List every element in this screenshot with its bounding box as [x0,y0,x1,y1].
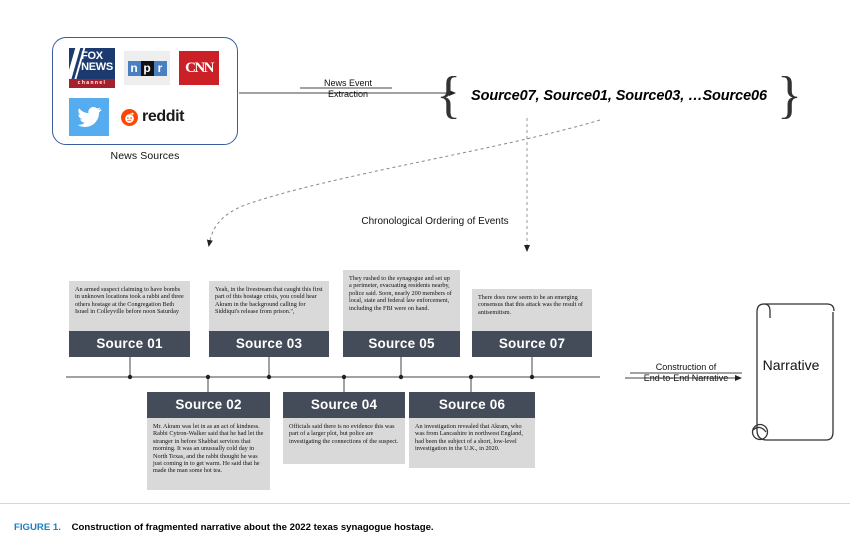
source-card-04-header: Source 04 [283,392,405,418]
source-card-03-header: Source 03 [209,331,329,357]
extraction-label-line2: Extraction [303,89,393,100]
figure-caption: FIGURE 1. Construction of fragmented nar… [14,522,434,533]
source-card-04[interactable]: Source 04 Officials said there is no evi… [283,392,405,464]
npr-icon: n p r [124,51,170,85]
source-set-text: Source07, Source01, Source03, …Source06 [461,88,777,104]
source-card-02[interactable]: Source 02 Mr. Akram was let in as an act… [147,392,270,490]
source-card-01-text: An armed suspect claiming to have bombs … [69,281,190,331]
source-card-03-text: Yeah, in the livestream that caught this… [209,281,329,331]
cnn-icon: CNN [179,51,219,85]
source-card-02-header: Source 02 [147,392,270,418]
figure-container: FOX NEWS channel n p r CNN [0,0,850,559]
source-card-07-header: Source 07 [472,331,592,357]
narrative-scroll[interactable]: Narrative [749,305,833,445]
news-event-extraction-label: News Event Extraction [303,78,393,100]
reddit-icon: reddit [121,108,184,126]
reddit-wordmark: reddit [142,108,184,126]
news-sources-panel: FOX NEWS channel n p r CNN [52,37,238,145]
construction-label-line1: Construction of [630,362,742,373]
source-card-07[interactable]: There does now seem to be an emerging co… [472,289,592,357]
source-card-05[interactable]: They rushed to the synagogue and set up … [343,270,460,357]
source-card-06-header: Source 06 [409,392,535,418]
source-card-01[interactable]: An armed suspect claiming to have bombs … [69,281,190,357]
timeline-dot [399,375,403,379]
source-card-01-header: Source 01 [69,331,190,357]
extraction-label-line1: News Event [303,78,393,89]
npr-letter-n: n [128,61,141,76]
narrative-label: Narrative [749,357,833,373]
timeline-dot [469,375,473,379]
construction-label-line2: End-to-End Narrative [630,373,742,384]
npr-letter-r: r [154,61,167,76]
fox-news-icon: FOX NEWS channel [69,48,115,88]
cnn-wordmark: CNN [185,60,213,77]
source-card-02-text: Mr. Akram was let in as an act of kindne… [147,418,270,490]
source-card-06[interactable]: Source 06 An investigation revealed that… [409,392,535,468]
timeline-dot [530,375,534,379]
logo-row-top: FOX NEWS channel n p r CNN [69,48,219,88]
fox-news-tagline: channel [69,79,115,88]
source-card-03[interactable]: Yeah, in the livestream that caught this… [209,281,329,357]
npr-letter-p: p [141,61,154,76]
news-sources-label: News Sources [52,150,238,162]
fox-news-line2: NEWS [81,62,113,73]
figure-number: FIGURE 1. [14,522,61,533]
logo-row-bottom: reddit [69,98,184,136]
source-card-07-text: There does now seem to be an emerging co… [472,289,592,331]
construction-narrative-label: Construction of End-to-End Narrative [630,362,742,384]
twitter-icon [69,98,109,136]
source-card-06-text: An investigation revealed that Akram, wh… [409,418,535,468]
source-card-05-header: Source 05 [343,331,460,357]
source-card-04-text: Officials said there is no evidence this… [283,418,405,464]
timeline-dot [128,375,132,379]
timeline-dot [267,375,271,379]
source-card-05-text: They rushed to the synagogue and set up … [343,270,460,331]
chronological-ordering-label: Chronological Ordering of Events [345,216,525,227]
caption-bar: FIGURE 1. Construction of fragmented nar… [0,503,850,560]
timeline-dot [342,375,346,379]
figure-caption-text: Construction of fragmented narrative abo… [72,522,434,533]
timeline-dot [206,375,210,379]
extracted-source-set: { Source07, Source01, Source03, …Source0… [460,73,778,119]
